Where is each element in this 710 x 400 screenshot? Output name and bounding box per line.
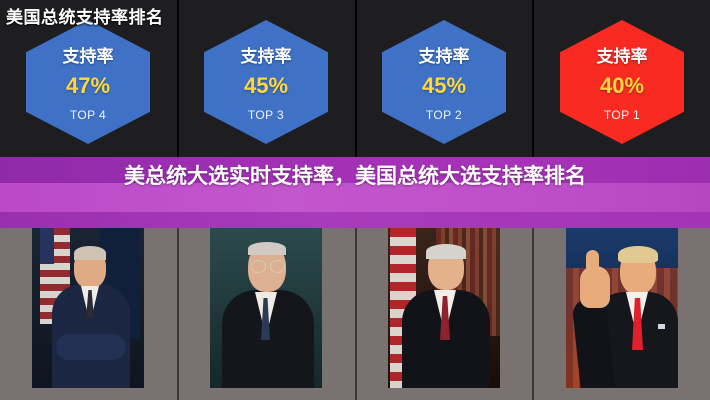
portrait-photo-carter bbox=[388, 228, 500, 388]
strip-divider bbox=[355, 228, 357, 400]
metric-label: 支持率 bbox=[241, 48, 292, 67]
ranking-card-2[interactable]: 支持率 45% TOP 3 bbox=[204, 20, 328, 144]
infographic-root: 美国总统支持率排名 支持率 47% TOP 4 支持率 45% TOP 3 支持… bbox=[0, 0, 710, 400]
portrait-photo-trump bbox=[566, 228, 678, 388]
column-divider bbox=[532, 0, 534, 158]
flag-canton bbox=[40, 228, 54, 264]
ranking-card-4[interactable]: 支持率 40% TOP 1 bbox=[560, 20, 684, 144]
eyeglasses-bridge bbox=[250, 262, 284, 271]
folded-arms bbox=[56, 334, 126, 360]
rank-badge: TOP 4 bbox=[70, 108, 106, 122]
hair bbox=[618, 246, 658, 263]
portrait-photo-ford bbox=[32, 228, 144, 388]
metric-label: 支持率 bbox=[597, 48, 648, 67]
strip-divider bbox=[532, 228, 534, 400]
approval-value: 40% bbox=[600, 75, 644, 97]
portrait-strip bbox=[0, 228, 710, 400]
hair bbox=[74, 246, 106, 260]
portrait-photo-truman bbox=[210, 228, 322, 388]
headline-banner: 美总统大选实时支持率，美国总统大选支持率排名 bbox=[0, 157, 710, 228]
ranking-card-1[interactable]: 支持率 47% TOP 4 bbox=[26, 20, 150, 144]
approval-value: 45% bbox=[244, 75, 288, 97]
hair bbox=[426, 244, 466, 259]
column-divider bbox=[355, 0, 357, 158]
thumb bbox=[586, 250, 599, 274]
metric-label: 支持率 bbox=[63, 48, 114, 67]
rank-badge: TOP 2 bbox=[426, 108, 462, 122]
ranking-card-3[interactable]: 支持率 45% TOP 2 bbox=[382, 20, 506, 144]
rank-badge: TOP 1 bbox=[604, 108, 640, 122]
hair bbox=[248, 242, 286, 255]
approval-value: 47% bbox=[66, 75, 110, 97]
metric-label: 支持率 bbox=[419, 48, 470, 67]
lapel-pin bbox=[658, 324, 665, 329]
headline-text: 美总统大选实时支持率，美国总统大选支持率排名 bbox=[0, 164, 710, 191]
banner-band-bottom bbox=[0, 212, 710, 228]
approval-value: 45% bbox=[422, 75, 466, 97]
ranking-cards-panel: 美国总统支持率排名 支持率 47% TOP 4 支持率 45% TOP 3 支持… bbox=[0, 0, 710, 158]
strip-divider bbox=[177, 228, 179, 400]
rank-badge: TOP 3 bbox=[248, 108, 284, 122]
page-title: 美国总统支持率排名 bbox=[6, 3, 164, 28]
column-divider bbox=[177, 0, 179, 158]
